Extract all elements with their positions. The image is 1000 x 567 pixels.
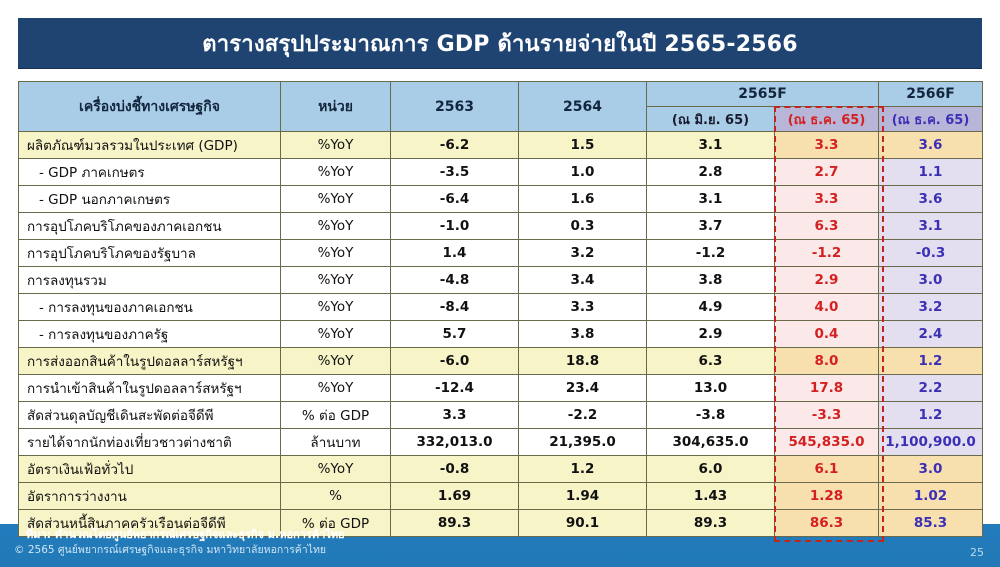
cell-2565f-jun: 2.9 bbox=[647, 321, 775, 348]
cell-2565f-dec: 2.9 bbox=[775, 267, 879, 294]
cell-2565f-dec: 2.7 bbox=[775, 159, 879, 186]
cell-2565f-jun: 3.7 bbox=[647, 213, 775, 240]
table-row: - GDP ภาคเกษตร%YoY-3.51.02.82.71.1 bbox=[19, 159, 983, 186]
cell-2563: -6.2 bbox=[391, 132, 519, 159]
copyright-note: © 2565 ศูนย์พยากรณ์เศรษฐกิจและธุรกิจ มหา… bbox=[14, 541, 326, 558]
cell-2566f-dec: 1.2 bbox=[879, 402, 983, 429]
cell-2565f-jun: 3.1 bbox=[647, 132, 775, 159]
cell-2565f-dec: 6.1 bbox=[775, 456, 879, 483]
cell-2563: -8.4 bbox=[391, 294, 519, 321]
gdp-summary-table: เครื่องบ่งชี้ทางเศรษฐกิจ หน่วย 2563 2564… bbox=[18, 81, 983, 537]
cell-2564: 18.8 bbox=[519, 348, 647, 375]
cell-2564: 1.2 bbox=[519, 456, 647, 483]
cell-2566f-dec: 1.02 bbox=[879, 483, 983, 510]
table-row: รายได้จากนักท่องเที่ยวชาวต่างชาติล้านบาท… bbox=[19, 429, 983, 456]
slide: ตารางสรุปประมาณการ GDP ด้านรายจ่ายในปี 2… bbox=[0, 0, 1000, 567]
table-row: - การลงทุนของภาคเอกชน%YoY-8.43.34.94.03.… bbox=[19, 294, 983, 321]
row-label: - การลงทุนของภาคเอกชน bbox=[19, 294, 281, 321]
cell-2563: -4.8 bbox=[391, 267, 519, 294]
cell-2565f-dec: 3.3 bbox=[775, 132, 879, 159]
row-unit: %YoY bbox=[281, 348, 391, 375]
cell-2565f-jun: 3.8 bbox=[647, 267, 775, 294]
cell-2565f-jun: 4.9 bbox=[647, 294, 775, 321]
cell-2563: -6.4 bbox=[391, 186, 519, 213]
table-row: อัตราเงินเฟ้อทั่วไป%YoY-0.81.26.06.13.0 bbox=[19, 456, 983, 483]
cell-2565f-jun: 6.3 bbox=[647, 348, 775, 375]
header-2565f: 2565F bbox=[647, 82, 879, 107]
cell-2565f-dec: -3.3 bbox=[775, 402, 879, 429]
header-2564: 2564 bbox=[519, 82, 647, 132]
cell-2563: 5.7 bbox=[391, 321, 519, 348]
cell-2563: -12.4 bbox=[391, 375, 519, 402]
cell-2564: 1.0 bbox=[519, 159, 647, 186]
cell-2564: -2.2 bbox=[519, 402, 647, 429]
cell-2565f-jun: 304,635.0 bbox=[647, 429, 775, 456]
table-row: อัตราการว่างงาน%1.691.941.431.281.02 bbox=[19, 483, 983, 510]
cell-2563: 3.3 bbox=[391, 402, 519, 429]
table-row: - การลงทุนของภาครัฐ%YoY5.73.82.90.42.4 bbox=[19, 321, 983, 348]
cell-2565f-dec: 0.4 bbox=[775, 321, 879, 348]
cell-2564: 3.4 bbox=[519, 267, 647, 294]
cell-2566f-dec: 1.1 bbox=[879, 159, 983, 186]
row-label: ผลิตภัณฑ์มวลรวมในประเทศ (GDP) bbox=[19, 132, 281, 159]
row-unit: %YoY bbox=[281, 375, 391, 402]
row-unit: %YoY bbox=[281, 321, 391, 348]
cell-2564: 3.3 bbox=[519, 294, 647, 321]
row-unit: %YoY bbox=[281, 186, 391, 213]
cell-2563: -0.8 bbox=[391, 456, 519, 483]
row-unit: %YoY bbox=[281, 267, 391, 294]
row-label: การนำเข้าสินค้าในรูปดอลลาร์สหรัฐฯ bbox=[19, 375, 281, 402]
cell-2565f-dec: 4.0 bbox=[775, 294, 879, 321]
cell-2566f-dec: 1,100,900.0 bbox=[879, 429, 983, 456]
page-title: ตารางสรุปประมาณการ GDP ด้านรายจ่ายในปี 2… bbox=[202, 26, 798, 61]
cell-2563: -6.0 bbox=[391, 348, 519, 375]
cell-2566f-dec: 3.6 bbox=[879, 132, 983, 159]
cell-2566f-dec: 3.2 bbox=[879, 294, 983, 321]
header-row-top: เครื่องบ่งชี้ทางเศรษฐกิจ หน่วย 2563 2564… bbox=[19, 82, 983, 107]
cell-2565f-dec: -1.2 bbox=[775, 240, 879, 267]
cell-2564: 1.5 bbox=[519, 132, 647, 159]
row-unit: %YoY bbox=[281, 294, 391, 321]
table-row: ผลิตภัณฑ์มวลรวมในประเทศ (GDP)%YoY-6.21.5… bbox=[19, 132, 983, 159]
table-head: เครื่องบ่งชี้ทางเศรษฐกิจ หน่วย 2563 2564… bbox=[19, 82, 983, 132]
table-row: การอุปโภคบริโภคของภาคเอกชน%YoY-1.00.33.7… bbox=[19, 213, 983, 240]
row-unit: % ต่อ GDP bbox=[281, 402, 391, 429]
row-unit: ล้านบาท bbox=[281, 429, 391, 456]
cell-2565f-dec: 17.8 bbox=[775, 375, 879, 402]
table-row: การอุปโภคบริโภคของรัฐบาล%YoY1.43.2-1.2-1… bbox=[19, 240, 983, 267]
cell-2566f-dec: 3.0 bbox=[879, 456, 983, 483]
slide-footer: ที่มา: คำนวณโดยศูนย์พยากรณ์เศรษฐกิจและธุ… bbox=[0, 524, 1000, 567]
cell-2566f-dec: -0.3 bbox=[879, 240, 983, 267]
slide-title-bar: ตารางสรุปประมาณการ GDP ด้านรายจ่ายในปี 2… bbox=[18, 18, 982, 68]
cell-2565f-jun: 1.43 bbox=[647, 483, 775, 510]
cell-2565f-dec: 3.3 bbox=[775, 186, 879, 213]
cell-2564: 1.94 bbox=[519, 483, 647, 510]
row-unit: %YoY bbox=[281, 456, 391, 483]
cell-2566f-dec: 2.2 bbox=[879, 375, 983, 402]
row-unit: %YoY bbox=[281, 159, 391, 186]
header-2566f: 2566F bbox=[879, 82, 983, 107]
cell-2564: 3.8 bbox=[519, 321, 647, 348]
cell-2563: -3.5 bbox=[391, 159, 519, 186]
header-sub-jun65: (ณ มิ.ย. 65) bbox=[647, 107, 775, 132]
row-label: รายได้จากนักท่องเที่ยวชาวต่างชาติ bbox=[19, 429, 281, 456]
row-label: การอุปโภคบริโภคของรัฐบาล bbox=[19, 240, 281, 267]
cell-2563: 332,013.0 bbox=[391, 429, 519, 456]
cell-2565f-jun: 6.0 bbox=[647, 456, 775, 483]
cell-2564: 3.2 bbox=[519, 240, 647, 267]
cell-2565f-jun: 3.1 bbox=[647, 186, 775, 213]
header-2563: 2563 bbox=[391, 82, 519, 132]
table-row: สัดส่วนดุลบัญชีเดินสะพัดต่อจีดีพี% ต่อ G… bbox=[19, 402, 983, 429]
cell-2564: 23.4 bbox=[519, 375, 647, 402]
row-label: อัตราการว่างงาน bbox=[19, 483, 281, 510]
cell-2565f-dec: 8.0 bbox=[775, 348, 879, 375]
cell-2565f-jun: -3.8 bbox=[647, 402, 775, 429]
cell-2563: -1.0 bbox=[391, 213, 519, 240]
cell-2563: 1.4 bbox=[391, 240, 519, 267]
table-row: การนำเข้าสินค้าในรูปดอลลาร์สหรัฐฯ%YoY-12… bbox=[19, 375, 983, 402]
cell-2566f-dec: 3.1 bbox=[879, 213, 983, 240]
cell-2565f-dec: 6.3 bbox=[775, 213, 879, 240]
row-label: การลงทุนรวม bbox=[19, 267, 281, 294]
cell-2566f-dec: 3.6 bbox=[879, 186, 983, 213]
row-label: - GDP ภาคเกษตร bbox=[19, 159, 281, 186]
row-label: อัตราเงินเฟ้อทั่วไป bbox=[19, 456, 281, 483]
row-label: การอุปโภคบริโภคของภาคเอกชน bbox=[19, 213, 281, 240]
gdp-summary-table-wrapper: เครื่องบ่งชี้ทางเศรษฐกิจ หน่วย 2563 2564… bbox=[18, 81, 982, 537]
row-label: การส่งออกสินค้าในรูปดอลลาร์สหรัฐฯ bbox=[19, 348, 281, 375]
row-unit: %YoY bbox=[281, 240, 391, 267]
table-row: การลงทุนรวม%YoY-4.83.43.82.93.0 bbox=[19, 267, 983, 294]
cell-2565f-dec: 1.28 bbox=[775, 483, 879, 510]
table-row: การส่งออกสินค้าในรูปดอลลาร์สหรัฐฯ%YoY-6.… bbox=[19, 348, 983, 375]
page-number: 25 bbox=[970, 546, 984, 559]
cell-2566f-dec: 3.0 bbox=[879, 267, 983, 294]
header-sub-dec65-2565f: (ณ ธ.ค. 65) bbox=[775, 107, 879, 132]
row-label: - GDP นอกภาคเกษตร bbox=[19, 186, 281, 213]
cell-2564: 21,395.0 bbox=[519, 429, 647, 456]
cell-2564: 1.6 bbox=[519, 186, 647, 213]
cell-2563: 1.69 bbox=[391, 483, 519, 510]
cell-2565f-dec: 545,835.0 bbox=[775, 429, 879, 456]
row-label: สัดส่วนดุลบัญชีเดินสะพัดต่อจีดีพี bbox=[19, 402, 281, 429]
cell-2566f-dec: 1.2 bbox=[879, 348, 983, 375]
cell-2565f-jun: 2.8 bbox=[647, 159, 775, 186]
table-body: ผลิตภัณฑ์มวลรวมในประเทศ (GDP)%YoY-6.21.5… bbox=[19, 132, 983, 537]
row-unit: % bbox=[281, 483, 391, 510]
cell-2565f-jun: -1.2 bbox=[647, 240, 775, 267]
row-unit: %YoY bbox=[281, 132, 391, 159]
table-row: - GDP นอกภาคเกษตร%YoY-6.41.63.13.33.6 bbox=[19, 186, 983, 213]
row-label: - การลงทุนของภาครัฐ bbox=[19, 321, 281, 348]
header-sub-dec65-2566f: (ณ ธ.ค. 65) bbox=[879, 107, 983, 132]
header-unit: หน่วย bbox=[281, 82, 391, 132]
header-indicator: เครื่องบ่งชี้ทางเศรษฐกิจ bbox=[19, 82, 281, 132]
cell-2566f-dec: 2.4 bbox=[879, 321, 983, 348]
row-unit: %YoY bbox=[281, 213, 391, 240]
cell-2564: 0.3 bbox=[519, 213, 647, 240]
cell-2565f-jun: 13.0 bbox=[647, 375, 775, 402]
